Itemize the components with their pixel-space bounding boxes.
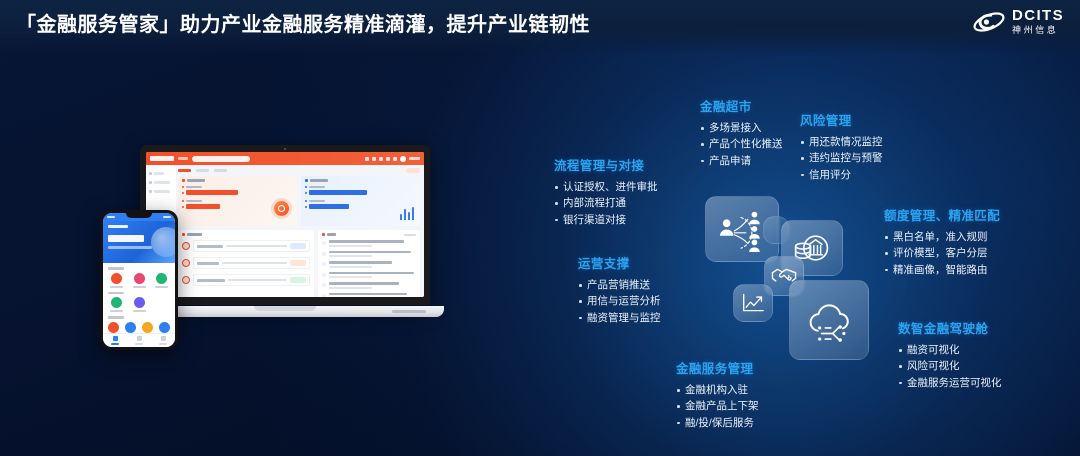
annotation-title: 数智金融驾驶舱: [898, 318, 1002, 337]
card-header: [182, 179, 293, 182]
tab-overview[interactable]: [178, 169, 191, 172]
laptop-trackpad-notch: [254, 306, 316, 311]
annotation-item: 金融产品上下架: [676, 398, 759, 414]
annotation-list: 产品营销推送 用信与运营分析 融资管理与监控: [578, 277, 661, 326]
shortcut-item[interactable]: [152, 273, 171, 288]
phone-tabbar: [103, 333, 175, 347]
phone-app-mockup: [100, 210, 178, 350]
status-badge: [290, 277, 306, 283]
annotation-item: 银行渠道对接: [554, 212, 658, 228]
page-title: 「金融服务管家」助力产业金融服务精准滴灌，提升产业链韧性: [16, 8, 590, 37]
annotation-title: 额度管理、精准匹配: [884, 205, 1000, 224]
panel-header: [322, 233, 416, 236]
shortcut-icon: [111, 297, 122, 308]
shortcut-icon: [125, 322, 136, 333]
dashboard-topbar-icons: [365, 156, 420, 162]
device-mockups: [100, 140, 450, 350]
annotation-item: 精准画像，智能路由: [884, 262, 1000, 278]
shortcut-row: [107, 297, 171, 312]
stat-card-financing: [178, 176, 297, 226]
annotation-item: 认证授权、进件审批: [554, 179, 658, 195]
laptop-lid: [140, 145, 430, 305]
annotation-item: 评价模型，客户分层: [884, 245, 1000, 261]
annotation-item: 产品个性化推送: [700, 136, 783, 152]
list-item[interactable]: [322, 251, 416, 258]
annotation-quota: 额度管理、精准匹配 黑白名单，准入规则 评价模型，客户分层 精准画像，智能路由: [884, 205, 1000, 278]
annotation-market: 金融超市 多场景接入 产品个性化推送 产品申请: [700, 96, 783, 169]
annotation-title: 金融超市: [700, 96, 783, 115]
target-badge-icon: [274, 201, 289, 216]
dashboard-search-input[interactable]: [192, 156, 250, 162]
sidebar-item-label: [154, 190, 170, 193]
annotation-item: 融/投/保后服务: [676, 415, 759, 431]
status-badge: [290, 243, 306, 249]
brand-logo: DCITS 神州信息: [972, 8, 1064, 35]
annotation-item: 黑白名单，准入规则: [884, 229, 1000, 245]
annotation-item: 内部流程打通: [554, 195, 658, 211]
step-indicator-icon: [182, 242, 190, 250]
shortcut-icon: [108, 322, 119, 333]
list-item[interactable]: [322, 293, 416, 298]
grid-icon[interactable]: [365, 157, 369, 161]
cluster-card-growth: [733, 284, 773, 322]
dcits-swirl-icon: [972, 9, 1006, 35]
cluster-card-cloud: [789, 280, 869, 360]
brand-name-cn: 神州信息: [1012, 26, 1064, 35]
annotation-item: 金融服务运营可视化: [898, 375, 1002, 391]
shortcut-icon: [134, 273, 145, 284]
tab-second[interactable]: [196, 169, 209, 172]
carrier-label: [107, 216, 115, 218]
step-indicator-icon: [182, 259, 190, 267]
list-item[interactable]: [182, 257, 310, 269]
phone-notch: [126, 213, 152, 218]
cloud-tech-icon: [803, 299, 855, 342]
annotation-list: 黑白名单，准入规则 评价模型，客户分层 精准画像，智能路由: [884, 229, 1000, 278]
annotation-list: 多场景接入 产品个性化推送 产品申请: [700, 120, 783, 169]
shortcut-item[interactable]: [130, 297, 149, 312]
banner-subtitle: [108, 246, 152, 249]
annotation-risk: 风险管理 用还款情况监控 违约监控与预警 信用评分: [800, 110, 883, 183]
dashboard-main: [176, 165, 424, 297]
card-header: [305, 179, 416, 182]
process-list-panel: [178, 230, 314, 297]
annotation-title: 金融服务管理: [676, 358, 759, 377]
annotation-item: 违约监控与预警: [800, 150, 883, 166]
dashboard-body: [146, 165, 424, 297]
tab-third[interactable]: [214, 169, 227, 172]
annotation-item: 信用评分: [800, 167, 883, 183]
list-item[interactable]: [182, 240, 310, 252]
slide-canvas: 「金融服务管家」助力产业金融服务精准滴灌，提升产业链韧性 DCITS 神州信息: [0, 0, 1080, 456]
annotation-item: 融资管理与监控: [578, 310, 661, 326]
shortcut-item[interactable]: [130, 273, 149, 288]
sidebar-icon: [149, 172, 152, 175]
annotation-title: 风险管理: [800, 110, 883, 129]
banner-tag: [108, 225, 128, 228]
shortcut-icon: [111, 273, 122, 284]
primary-action-button[interactable]: [406, 168, 420, 173]
notice-list-panel: [318, 230, 420, 297]
brand-name-en: DCITS: [1012, 8, 1064, 23]
stat-card-credit: [301, 176, 420, 226]
annotation-title: 流程管理与对接: [554, 155, 658, 174]
shortcut-icon: [142, 322, 153, 333]
banner-title: [108, 235, 144, 242]
stat-item: [305, 186, 416, 195]
tab-profile[interactable]: [151, 334, 175, 347]
settings-icon[interactable]: [393, 157, 397, 161]
shortcut-row: [107, 273, 171, 288]
annotation-list: 用还款情况监控 违约监控与预警 信用评分: [800, 134, 883, 183]
growth-chart-icon: [740, 292, 766, 314]
laptop-screen: [146, 152, 424, 297]
people-network-icon: [715, 206, 769, 252]
annotation-item: 产品申请: [700, 153, 783, 169]
annotation-operation: 运营支撑 产品营销推送 用信与运营分析 融资管理与监控: [578, 253, 661, 326]
section-title: [108, 316, 124, 319]
annotation-financial-service: 金融服务管理 金融机构入驻 金融产品上下架 融/投/保后服务: [676, 358, 759, 431]
annotation-cockpit: 数智金融驾驶舱 融资可视化 风险可视化 金融服务运营可视化: [898, 318, 1002, 391]
dashboard-menu-icon: [178, 157, 188, 160]
battery-icon: [163, 216, 171, 218]
annotation-list: 认证授权、进件审批 内部流程打通 银行渠道对接: [554, 179, 658, 228]
bar-chart-icon: [400, 206, 415, 220]
section-title: [108, 267, 124, 270]
annotation-item: 金融机构入驻: [676, 382, 759, 398]
phone-hero-banner: [103, 221, 175, 263]
laptop-camera-icon: [284, 148, 286, 150]
status-badge: [290, 260, 306, 266]
annotation-title: 运营支撑: [578, 253, 661, 272]
annotation-item: 用信与运营分析: [578, 293, 661, 309]
dashboard-tabs: [178, 168, 420, 173]
step-indicator-icon: [182, 276, 190, 284]
dashboard-logo-icon: [150, 156, 174, 161]
icon-card-cluster: [705, 196, 865, 361]
sidebar-item[interactable]: [149, 190, 173, 193]
laptop-dashboard-mockup: [140, 145, 440, 325]
list-item[interactable]: [322, 272, 416, 279]
list-item[interactable]: [322, 261, 416, 268]
shortcut-icon: [159, 322, 170, 333]
list-item[interactable]: [182, 274, 310, 286]
shortcut-icon: [156, 273, 167, 284]
shortcut-item[interactable]: [107, 273, 126, 288]
annotation-item: 多场景接入: [700, 120, 783, 136]
laptop-foot: [392, 310, 426, 313]
help-icon[interactable]: [386, 157, 390, 161]
annotation-list: 金融机构入驻 金融产品上下架 融/投/保后服务: [676, 382, 759, 431]
list-item[interactable]: [322, 282, 416, 289]
message-icon[interactable]: [379, 157, 383, 161]
avatar[interactable]: [400, 156, 406, 162]
sidebar-icon: [149, 190, 152, 193]
sidebar-item-label: [154, 172, 164, 175]
stat-item: [182, 186, 293, 195]
slide-header: 「金融服务管家」助力产业金融服务精准滴灌，提升产业链韧性 DCITS 神州信息: [0, 0, 1080, 52]
section-title: [108, 292, 124, 295]
phone-screen: [103, 213, 175, 347]
annotation-flow: 流程管理与对接 认证授权、进件审批 内部流程打通 银行渠道对接: [554, 155, 658, 228]
sidebar-item[interactable]: [149, 181, 173, 184]
annotation-item: 融资可视化: [898, 342, 1002, 358]
username-label: [409, 157, 420, 160]
tab-service[interactable]: [127, 334, 151, 347]
dashboard-topbar: [146, 152, 424, 165]
annotation-item: 用还款情况监控: [800, 134, 883, 150]
annotation-item: 风险可视化: [898, 358, 1002, 374]
sidebar-item[interactable]: [149, 172, 173, 175]
annotation-item: 产品营销推送: [578, 277, 661, 293]
sidebar-icon: [149, 181, 152, 184]
tab-home[interactable]: [103, 334, 127, 347]
bell-icon[interactable]: [372, 157, 376, 161]
banner-orb-icon: [151, 227, 175, 257]
list-item[interactable]: [322, 240, 416, 247]
dashboard-lower: [178, 230, 420, 297]
shortcut-icon: [134, 297, 145, 308]
shortcut-item[interactable]: [107, 297, 126, 312]
brand-logo-text: DCITS 神州信息: [1012, 8, 1064, 35]
sidebar-item-label: [154, 181, 170, 184]
stat-card-row: [178, 176, 420, 226]
annotation-list: 融资可视化 风险可视化 金融服务运营可视化: [898, 342, 1002, 391]
panel-header: [182, 233, 310, 236]
